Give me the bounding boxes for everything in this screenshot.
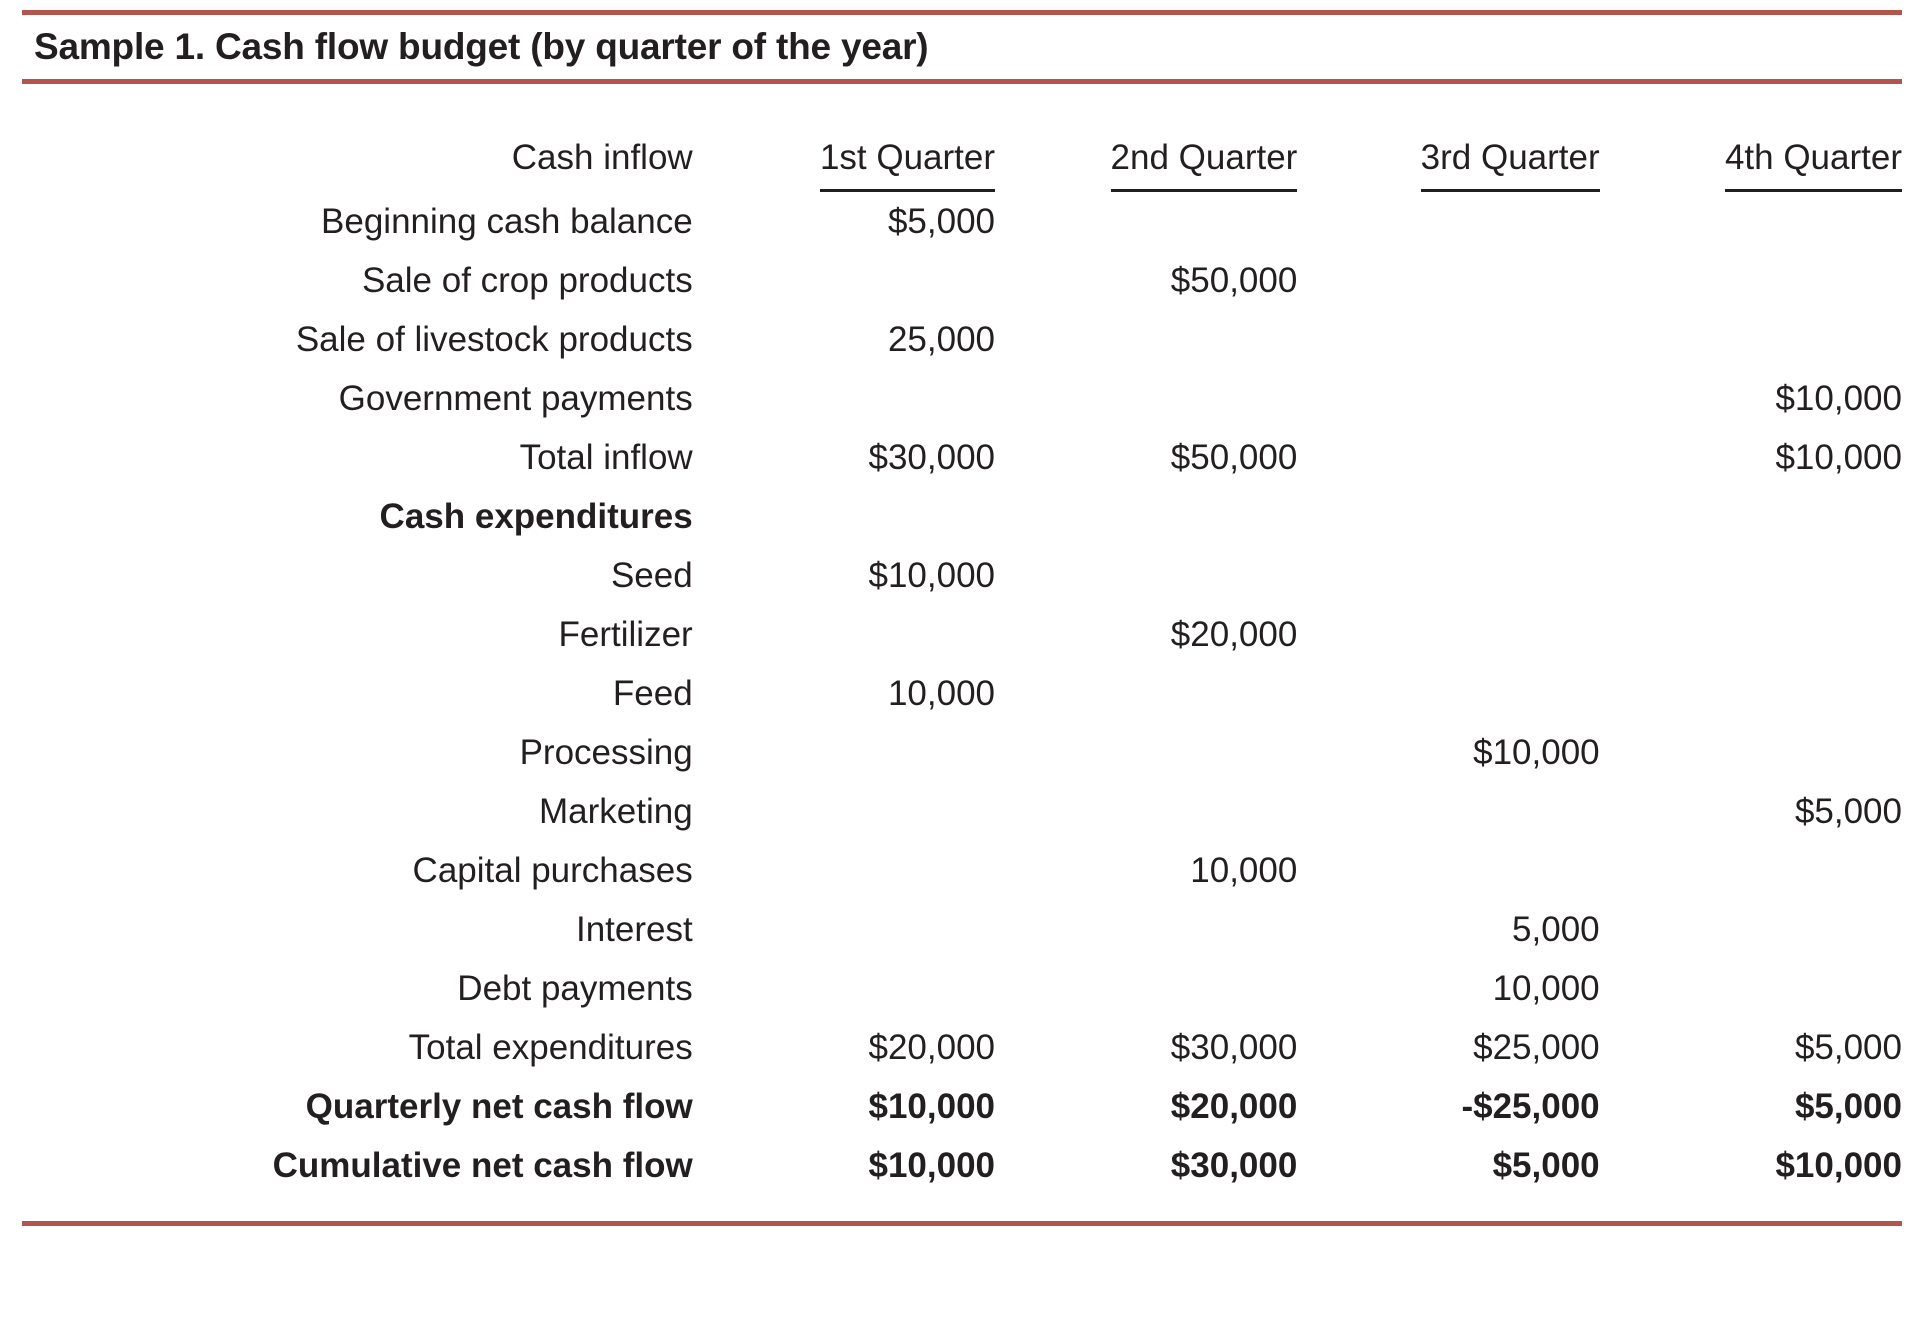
row-value-q3	[1297, 310, 1599, 369]
row-label: Capital purchases	[22, 841, 693, 900]
row-value-q2	[995, 546, 1297, 605]
row-value-q3	[1297, 251, 1599, 310]
row-value-q1: $30,000	[693, 428, 995, 487]
row-value-q4	[1600, 546, 1902, 605]
row-value-q3	[1297, 546, 1599, 605]
column-header-q3: 3rd Quarter	[1297, 128, 1599, 192]
bottom-rule	[22, 1221, 1902, 1226]
row-label: Interest	[22, 900, 693, 959]
table-row: Processing$10,000	[22, 723, 1902, 782]
row-value-q1: $10,000	[693, 1077, 995, 1136]
row-value-q1	[693, 959, 995, 1018]
column-header-label: Cash inflow	[22, 128, 693, 192]
section-heading-blank-q2	[995, 487, 1297, 546]
row-value-q3	[1297, 841, 1599, 900]
row-value-q3	[1297, 192, 1599, 251]
row-value-q1: $20,000	[693, 1018, 995, 1077]
page-title: Sample 1. Cash flow budget (by quarter o…	[22, 15, 1902, 71]
row-value-q4	[1600, 310, 1902, 369]
row-label: Processing	[22, 723, 693, 782]
row-value-q4: $10,000	[1600, 369, 1902, 428]
row-value-q4: $5,000	[1600, 1077, 1902, 1136]
row-value-q1: $10,000	[693, 1136, 995, 1195]
row-value-q3: $10,000	[1297, 723, 1599, 782]
row-value-q1	[693, 841, 995, 900]
row-value-q3	[1297, 428, 1599, 487]
row-value-q4: $10,000	[1600, 428, 1902, 487]
table-row: Sale of crop products$50,000	[22, 251, 1902, 310]
section-heading-blank-q4	[1600, 487, 1902, 546]
table-row: Sale of livestock products25,000	[22, 310, 1902, 369]
row-value-q2	[995, 664, 1297, 723]
row-value-q4	[1600, 900, 1902, 959]
row-value-q2: $50,000	[995, 251, 1297, 310]
row-value-q2: 10,000	[995, 841, 1297, 900]
column-header-q3-text: 3rd Quarter	[1421, 128, 1600, 192]
section-heading-blank-q1	[693, 487, 995, 546]
table-row: Cumulative net cash flow$10,000$30,000$5…	[22, 1136, 1902, 1195]
row-value-q1	[693, 369, 995, 428]
table-row: Beginning cash balance$5,000	[22, 192, 1902, 251]
row-value-q2	[995, 723, 1297, 782]
row-value-q3: $5,000	[1297, 1136, 1599, 1195]
row-value-q3: $25,000	[1297, 1018, 1599, 1077]
row-value-q2: $30,000	[995, 1018, 1297, 1077]
table-row: Debt payments10,000	[22, 959, 1902, 1018]
row-value-q3	[1297, 605, 1599, 664]
row-value-q2: $50,000	[995, 428, 1297, 487]
column-header-q4: 4th Quarter	[1600, 128, 1902, 192]
row-label: Beginning cash balance	[22, 192, 693, 251]
table-row: Seed$10,000	[22, 546, 1902, 605]
row-value-q2: $20,000	[995, 1077, 1297, 1136]
row-value-q4	[1600, 605, 1902, 664]
column-header-q2: 2nd Quarter	[995, 128, 1297, 192]
column-header-q1: 1st Quarter	[693, 128, 995, 192]
table-row: Quarterly net cash flow$10,000$20,000-$2…	[22, 1077, 1902, 1136]
row-value-q3	[1297, 782, 1599, 841]
row-value-q2	[995, 310, 1297, 369]
row-value-q2	[995, 192, 1297, 251]
row-label: Total inflow	[22, 428, 693, 487]
row-value-q3: 10,000	[1297, 959, 1599, 1018]
row-value-q2	[995, 959, 1297, 1018]
column-header-q1-text: 1st Quarter	[820, 128, 995, 192]
table-row: Marketing$5,000	[22, 782, 1902, 841]
row-value-q2: $20,000	[995, 605, 1297, 664]
row-value-q1	[693, 782, 995, 841]
row-label: Marketing	[22, 782, 693, 841]
row-value-q3: -$25,000	[1297, 1077, 1599, 1136]
row-value-q4: $10,000	[1600, 1136, 1902, 1195]
row-value-q1: $10,000	[693, 546, 995, 605]
row-label: Total expenditures	[22, 1018, 693, 1077]
row-label: Debt payments	[22, 959, 693, 1018]
row-value-q3	[1297, 664, 1599, 723]
row-value-q4: $5,000	[1600, 782, 1902, 841]
table-body: Beginning cash balance$5,000Sale of crop…	[22, 192, 1902, 1195]
table-row: Total expenditures$20,000$30,000$25,000$…	[22, 1018, 1902, 1077]
column-header-q2-text: 2nd Quarter	[1111, 128, 1298, 192]
row-value-q1	[693, 605, 995, 664]
row-value-q1: 10,000	[693, 664, 995, 723]
section-heading-row: Cash expenditures	[22, 487, 1902, 546]
row-value-q3	[1297, 369, 1599, 428]
column-header-q4-text: 4th Quarter	[1725, 128, 1902, 192]
document-page: Sample 1. Cash flow budget (by quarter o…	[0, 10, 1920, 1333]
row-value-q4	[1600, 664, 1902, 723]
row-label: Fertilizer	[22, 605, 693, 664]
row-value-q4	[1600, 959, 1902, 1018]
section-heading: Cash expenditures	[22, 487, 693, 546]
row-label: Cumulative net cash flow	[22, 1136, 693, 1195]
table-row: Interest5,000	[22, 900, 1902, 959]
row-value-q1	[693, 251, 995, 310]
row-value-q2	[995, 782, 1297, 841]
row-value-q4	[1600, 192, 1902, 251]
cash-flow-budget-table: Cash inflow 1st Quarter 2nd Quarter 3rd …	[22, 128, 1902, 1195]
row-label: Sale of crop products	[22, 251, 693, 310]
table-row: Capital purchases10,000	[22, 841, 1902, 900]
row-value-q1	[693, 900, 995, 959]
table-row: Government payments$10,000	[22, 369, 1902, 428]
row-value-q4	[1600, 251, 1902, 310]
title-underline-rule	[22, 79, 1902, 84]
row-label: Sale of livestock products	[22, 310, 693, 369]
row-value-q1: $5,000	[693, 192, 995, 251]
table-row: Total inflow$30,000$50,000$10,000	[22, 428, 1902, 487]
row-value-q2: $30,000	[995, 1136, 1297, 1195]
table-header-row: Cash inflow 1st Quarter 2nd Quarter 3rd …	[22, 128, 1902, 192]
table-row: Fertilizer$20,000	[22, 605, 1902, 664]
row-label: Quarterly net cash flow	[22, 1077, 693, 1136]
row-value-q1: 25,000	[693, 310, 995, 369]
row-label: Feed	[22, 664, 693, 723]
row-value-q4	[1600, 723, 1902, 782]
row-value-q3: 5,000	[1297, 900, 1599, 959]
row-value-q2	[995, 369, 1297, 428]
row-value-q4: $5,000	[1600, 1018, 1902, 1077]
row-value-q4	[1600, 841, 1902, 900]
row-label: Seed	[22, 546, 693, 605]
table-row: Feed10,000	[22, 664, 1902, 723]
row-value-q2	[995, 900, 1297, 959]
row-label: Government payments	[22, 369, 693, 428]
row-value-q1	[693, 723, 995, 782]
section-heading-blank-q3	[1297, 487, 1599, 546]
